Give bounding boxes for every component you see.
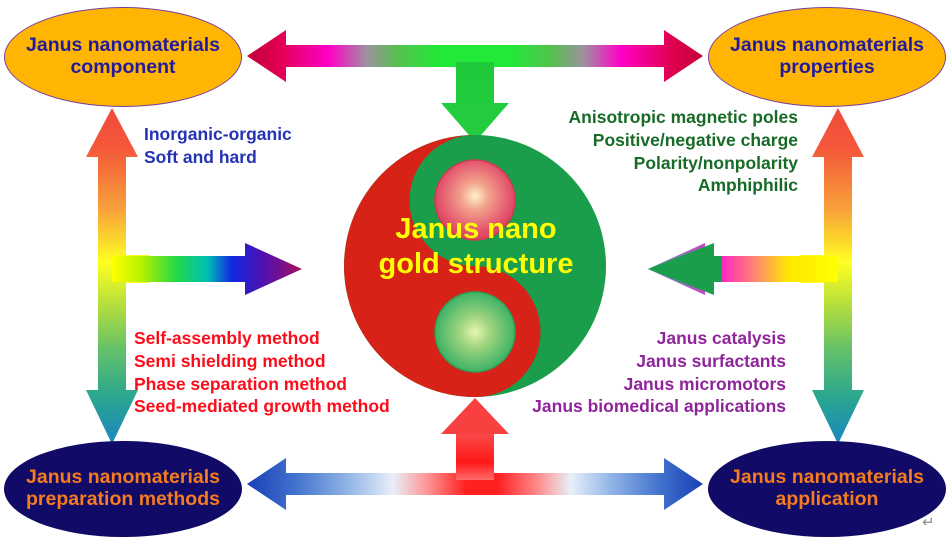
properties-line-4: Amphiphilic bbox=[483, 174, 798, 197]
component-line-2: Soft and hard bbox=[144, 146, 292, 169]
arrow-bottom-to-center bbox=[441, 398, 509, 480]
node-bottom-left-line1: Janus nanomaterials bbox=[26, 467, 220, 489]
arrow-right-to-center bbox=[648, 243, 838, 295]
node-bottom-right-line2: application bbox=[730, 489, 924, 511]
node-top-left-line1: Janus nanomaterials bbox=[26, 35, 220, 57]
component-line-1: Inorganic-organic bbox=[144, 123, 292, 146]
node-janus-nanomaterials-properties[interactable]: Janus nanomaterials properties bbox=[708, 7, 946, 107]
arrow-left-to-center bbox=[112, 243, 302, 295]
properties-line-3: Polarity/nonpolarity bbox=[483, 152, 798, 175]
node-top-right-line1: Janus nanomaterials bbox=[730, 35, 924, 57]
text-block-application: Janus catalysis Janus surfactants Janus … bbox=[500, 327, 786, 418]
properties-line-2: Positive/negative charge bbox=[483, 129, 798, 152]
application-line-3: Janus micromotors bbox=[500, 373, 786, 396]
node-top-right-line2: properties bbox=[730, 57, 924, 79]
methods-line-3: Phase separation method bbox=[134, 373, 390, 396]
properties-line-1: Anisotropic magnetic poles bbox=[483, 106, 798, 129]
application-line-2: Janus surfactants bbox=[500, 350, 786, 373]
node-janus-nanomaterials-component[interactable]: Janus nanomaterials component bbox=[4, 7, 242, 107]
methods-line-2: Semi shielding method bbox=[134, 350, 390, 373]
node-janus-nanomaterials-preparation-methods[interactable]: Janus nanomaterials preparation methods bbox=[4, 441, 242, 537]
text-block-component: Inorganic-organic Soft and hard bbox=[144, 123, 292, 169]
methods-line-1: Self-assembly method bbox=[134, 327, 390, 350]
application-line-4: Janus biomedical applications bbox=[500, 395, 786, 418]
methods-line-4: Seed-mediated growth method bbox=[134, 395, 390, 418]
node-top-left-line2: component bbox=[26, 57, 220, 79]
text-block-properties: Anisotropic magnetic poles Positive/nega… bbox=[483, 106, 798, 197]
paragraph-return-mark: ↵ bbox=[922, 513, 935, 531]
text-block-preparation-methods: Self-assembly method Semi shielding meth… bbox=[134, 327, 390, 418]
diagram-canvas: Janus nano gold structure Janus nanomate… bbox=[0, 0, 950, 541]
node-bottom-left-line2: preparation methods bbox=[26, 489, 220, 511]
node-bottom-right-line1: Janus nanomaterials bbox=[730, 467, 924, 489]
application-line-1: Janus catalysis bbox=[500, 327, 786, 350]
node-janus-nanomaterials-application[interactable]: Janus nanomaterials application bbox=[708, 441, 946, 537]
